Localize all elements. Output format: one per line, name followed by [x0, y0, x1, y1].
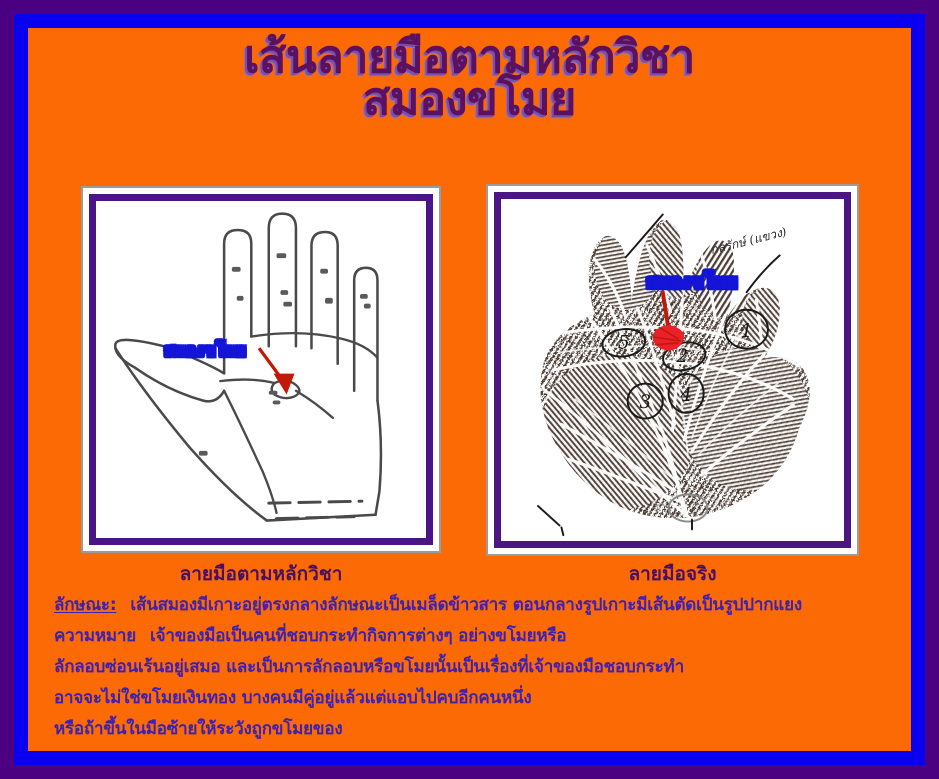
poster-outer-border: เส้นลายมือตามหลักวิชา สมองขโมย	[0, 0, 939, 779]
description-line-2: ความหมายเจ้าของมือเป็นคนที่ชอบกระทำกิจกา…	[54, 621, 897, 652]
real-palm-print-icon: 1 2 5 3 4	[501, 199, 844, 541]
description-line-3: ลักลอบซ่อนเร้นอยู่เสมอ และเป็นการลักลอบห…	[54, 652, 897, 683]
palm-print-frame: 1 2 5 3 4	[486, 184, 859, 556]
poster-canvas: เส้นลายมือตามหลักวิชา สมองขโมย	[28, 28, 911, 751]
callout-label-left: สมองขโมย	[164, 337, 246, 364]
palm-print-frame-inner: 1 2 5 3 4	[494, 192, 851, 548]
callout-label-right: สมองขโมย	[646, 267, 738, 297]
meaning-text: เจ้าของมือเป็นคนที่ชอบกระทำกิจการต่างๆ อ…	[150, 626, 566, 646]
description-block: ลักษณะ:เส้นสมองมีเกาะอยู่ตรงกลางลักษณะเป…	[54, 590, 897, 745]
characteristic-text: เส้นสมองมีเกาะอยู่ตรงกลางลักษณะเป็นเมล็ด…	[130, 595, 802, 615]
image-panels: สมองขโมย	[28, 184, 911, 556]
panel-captions: ลายมือตามหลักวิชา ลายมือจริง	[28, 559, 911, 585]
caption-right: ลายมือจริง	[486, 559, 859, 589]
poster-mid-border: เส้นลายมือตามหลักวิชา สมองขโมย	[14, 14, 925, 765]
description-line-1: ลักษณะ:เส้นสมองมีเกาะอยู่ตรงกลางลักษณะเป…	[54, 590, 897, 621]
caption-left: ลายมือตามหลักวิชา	[81, 559, 441, 589]
title-line-2: สมองขโมย	[28, 76, 911, 122]
svg-text:3: 3	[639, 392, 651, 413]
palm-diagram-frame-inner: สมองขโมย	[89, 194, 433, 545]
meaning-label: ความหมาย	[54, 626, 136, 646]
svg-text:2: 2	[675, 346, 688, 367]
page-title: เส้นลายมือตามหลักวิชา สมองขโมย	[28, 34, 911, 122]
palmistry-line-diagram-icon	[96, 201, 426, 538]
svg-text:1: 1	[741, 321, 753, 342]
palm-diagram-frame: สมองขโมย	[81, 186, 441, 553]
characteristic-label: ลักษณะ:	[54, 595, 116, 615]
svg-text:5: 5	[618, 333, 630, 354]
description-line-5: หรือถ้าขึ้นในมือซ้ายให้ระวังถูกขโมยของ	[54, 714, 897, 745]
description-line-4: อาจจะไม่ใช่ขโมยเงินทอง บางคนมีคู่อยู่แล้…	[54, 683, 897, 714]
svg-text:4: 4	[679, 385, 692, 406]
